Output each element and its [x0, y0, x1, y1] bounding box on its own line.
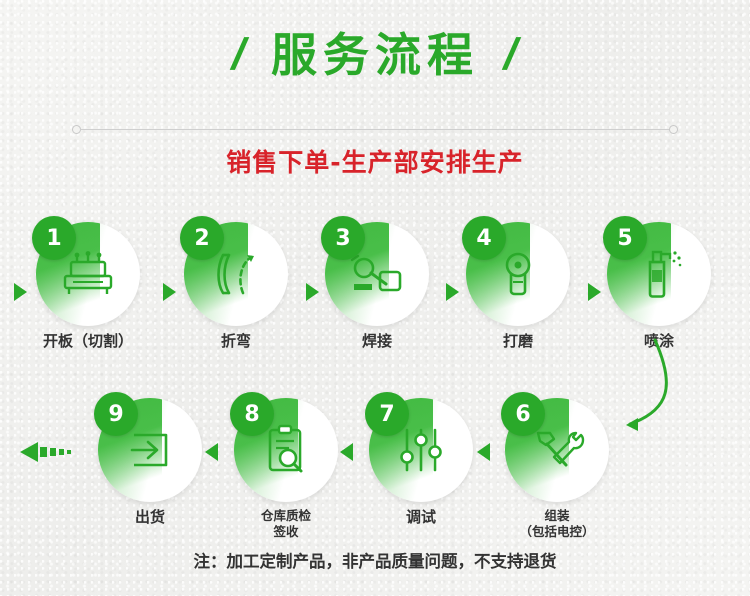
step-3: 3 焊接 — [325, 222, 429, 326]
step-5-badge: 5 — [603, 216, 647, 260]
step-8-label: 仓库质检 签收 — [211, 508, 361, 541]
flow-arrow-start-icon — [14, 283, 27, 301]
footer-note: 注：加工定制产品，非产品质量问题，不支持退货 — [0, 548, 750, 572]
service-flow-infographic: / 服务流程 / 销售下单-生产部安排生产 — [0, 0, 750, 596]
step-9-label: 出货 — [75, 508, 225, 527]
step-2-badge: 2 — [180, 216, 224, 260]
step-2-label: 折弯 — [161, 332, 311, 351]
flow-arrow-2-3-icon — [306, 283, 319, 301]
slash-right-icon: / — [500, 33, 523, 77]
step-4: 4 打磨 — [466, 222, 570, 326]
step-1-badge: 1 — [32, 216, 76, 260]
step-3-badge: 3 — [321, 216, 365, 260]
divider — [72, 125, 678, 135]
step-1: 1 开板（切割） — [36, 222, 140, 326]
divider-line — [80, 129, 670, 130]
page-title: 服务流程 — [271, 32, 479, 78]
step-6-label: 组装 （包括电控） — [482, 508, 632, 541]
step-4-label: 打磨 — [443, 332, 593, 351]
step-7: 7 调试 — [369, 398, 473, 502]
step-9-badge: 9 — [94, 392, 138, 436]
flow-arrow-6-7-icon — [477, 443, 490, 461]
flow-arrow-8-9-icon — [205, 443, 218, 461]
step-7-badge: 7 — [365, 392, 409, 436]
flow-arrow-1-2-icon — [163, 283, 176, 301]
step-9: 9 出货 — [98, 398, 202, 502]
step-4-badge: 4 — [462, 216, 506, 260]
flow-arrow-4-5-icon — [588, 283, 601, 301]
step-3-label: 焊接 — [302, 332, 452, 351]
flow-arrow-3-4-icon — [446, 283, 459, 301]
divider-dot-right — [669, 125, 678, 134]
slash-left-icon: / — [227, 33, 250, 77]
step-8-badge: 8 — [230, 392, 274, 436]
step-2: 2 折弯 — [184, 222, 288, 326]
step-6: 6 组装 （包括电控） — [505, 398, 609, 502]
title-row: / 服务流程 / — [0, 32, 750, 78]
flow-curve-5-6 — [600, 300, 730, 445]
step-7-label: 调试 — [346, 508, 496, 527]
step-1-label: 开板（切割） — [13, 332, 163, 351]
subtitle: 销售下单-生产部安排生产 — [0, 143, 750, 179]
flow-arrow-end-icon — [20, 440, 98, 469]
flow-arrow-7-8-icon — [340, 443, 353, 461]
step-8: 8 仓库质检 签收 — [234, 398, 338, 502]
step-6-badge: 6 — [501, 392, 545, 436]
